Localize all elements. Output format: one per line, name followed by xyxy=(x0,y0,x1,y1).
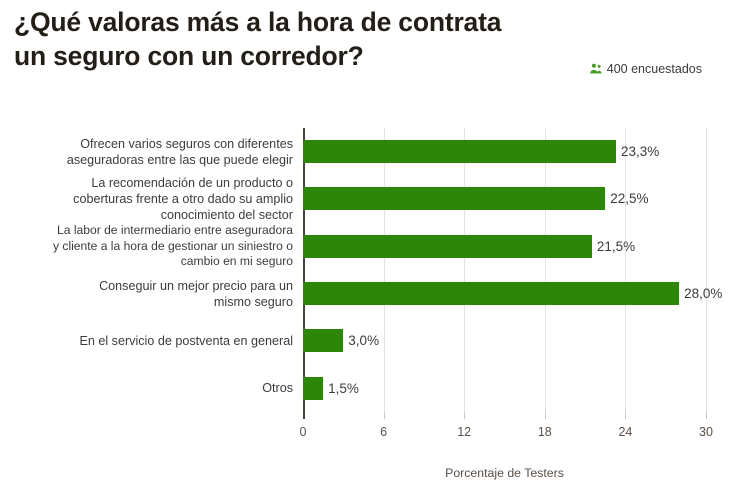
bar[interactable] xyxy=(303,235,592,258)
bar[interactable] xyxy=(303,140,616,163)
y-axis-category-labels: Ofrecen varios seguros con diferentesase… xyxy=(0,128,293,412)
category-label: La labor de intermediario entre asegurad… xyxy=(0,223,293,270)
category-label-line: conocimiento del sector xyxy=(73,207,293,223)
x-axis-tick-label: 12 xyxy=(457,425,471,439)
bar[interactable] xyxy=(303,377,323,400)
category-label-line: En el servicio de postventa en general xyxy=(79,333,293,349)
bar-row[interactable]: 28,0% xyxy=(303,270,744,317)
bar-value-label: 22,5% xyxy=(610,191,648,206)
bar-value-label: 28,0% xyxy=(684,286,722,301)
respondents-badge: 400 encuestados xyxy=(589,62,702,76)
bar-chart: Ofrecen varios seguros con diferentesase… xyxy=(0,110,744,499)
bar-series: 23,3%22,5%21,5%28,0%3,0%1,5% xyxy=(303,128,706,412)
category-label-line: La recomendación de un producto o xyxy=(73,175,293,191)
x-axis-tick xyxy=(625,412,626,419)
category-label-line: mismo seguro xyxy=(99,294,293,310)
x-axis-tick-label: 6 xyxy=(380,425,387,439)
bar[interactable] xyxy=(303,187,605,210)
people-icon xyxy=(589,62,603,76)
plot-area: 23,3%22,5%21,5%28,0%3,0%1,5% xyxy=(303,128,706,412)
bar-row[interactable]: 1,5% xyxy=(303,365,744,412)
category-label: La recomendación de un producto ocobertu… xyxy=(0,175,293,222)
bar-value-label: 23,3% xyxy=(621,144,659,159)
category-label-line: aseguradoras entre las que puede elegir xyxy=(67,152,293,168)
x-axis-title: Porcentaje de Testers xyxy=(303,466,706,480)
category-label-line: Conseguir un mejor precio para un xyxy=(99,278,293,294)
category-label-line: y cliente a la hora de gestionar un sini… xyxy=(53,239,293,254)
bar-value-label: 1,5% xyxy=(328,381,359,396)
category-label: Otros xyxy=(0,365,293,412)
x-axis-tick xyxy=(303,412,305,419)
bar-value-label: 21,5% xyxy=(597,239,635,254)
category-label-line: La labor de intermediario entre asegurad… xyxy=(53,223,293,238)
x-axis-tick xyxy=(384,412,385,419)
category-label: En el servicio de postventa en general xyxy=(0,317,293,364)
bar-row[interactable]: 3,0% xyxy=(303,317,744,364)
category-label-line: Otros xyxy=(262,380,293,396)
page-title: ¿Qué valoras más a la hora de contrata u… xyxy=(14,6,614,73)
title-line-2: un seguro con un corredor? xyxy=(14,40,614,74)
bar-row[interactable]: 21,5% xyxy=(303,223,744,270)
bar-row[interactable]: 23,3% xyxy=(303,128,744,175)
x-axis-tick-label: 18 xyxy=(538,425,552,439)
x-axis-tick-label: 30 xyxy=(699,425,713,439)
x-axis-tick xyxy=(706,412,707,419)
bar-row[interactable]: 22,5% xyxy=(303,175,744,222)
category-label-line: coberturas frente a otro dado su amplio xyxy=(73,191,293,207)
category-label-line: Ofrecen varios seguros con diferentes xyxy=(67,136,293,152)
category-label: Ofrecen varios seguros con diferentesase… xyxy=(0,128,293,175)
category-label-line: cambio en mi seguro xyxy=(53,254,293,269)
x-axis-tick-label: 24 xyxy=(618,425,632,439)
chart-header: ¿Qué valoras más a la hora de contrata u… xyxy=(0,0,744,110)
bar[interactable] xyxy=(303,282,679,305)
x-axis-tick-label: 0 xyxy=(300,425,307,439)
bar-value-label: 3,0% xyxy=(348,333,379,348)
x-axis-tick xyxy=(464,412,465,419)
category-label: Conseguir un mejor precio para unmismo s… xyxy=(0,270,293,317)
title-line-1: ¿Qué valoras más a la hora de contrata xyxy=(14,6,614,40)
bar[interactable] xyxy=(303,329,343,352)
respondents-label: 400 encuestados xyxy=(607,62,702,76)
x-axis: 0612182430 xyxy=(303,412,706,472)
x-axis-tick xyxy=(545,412,546,419)
